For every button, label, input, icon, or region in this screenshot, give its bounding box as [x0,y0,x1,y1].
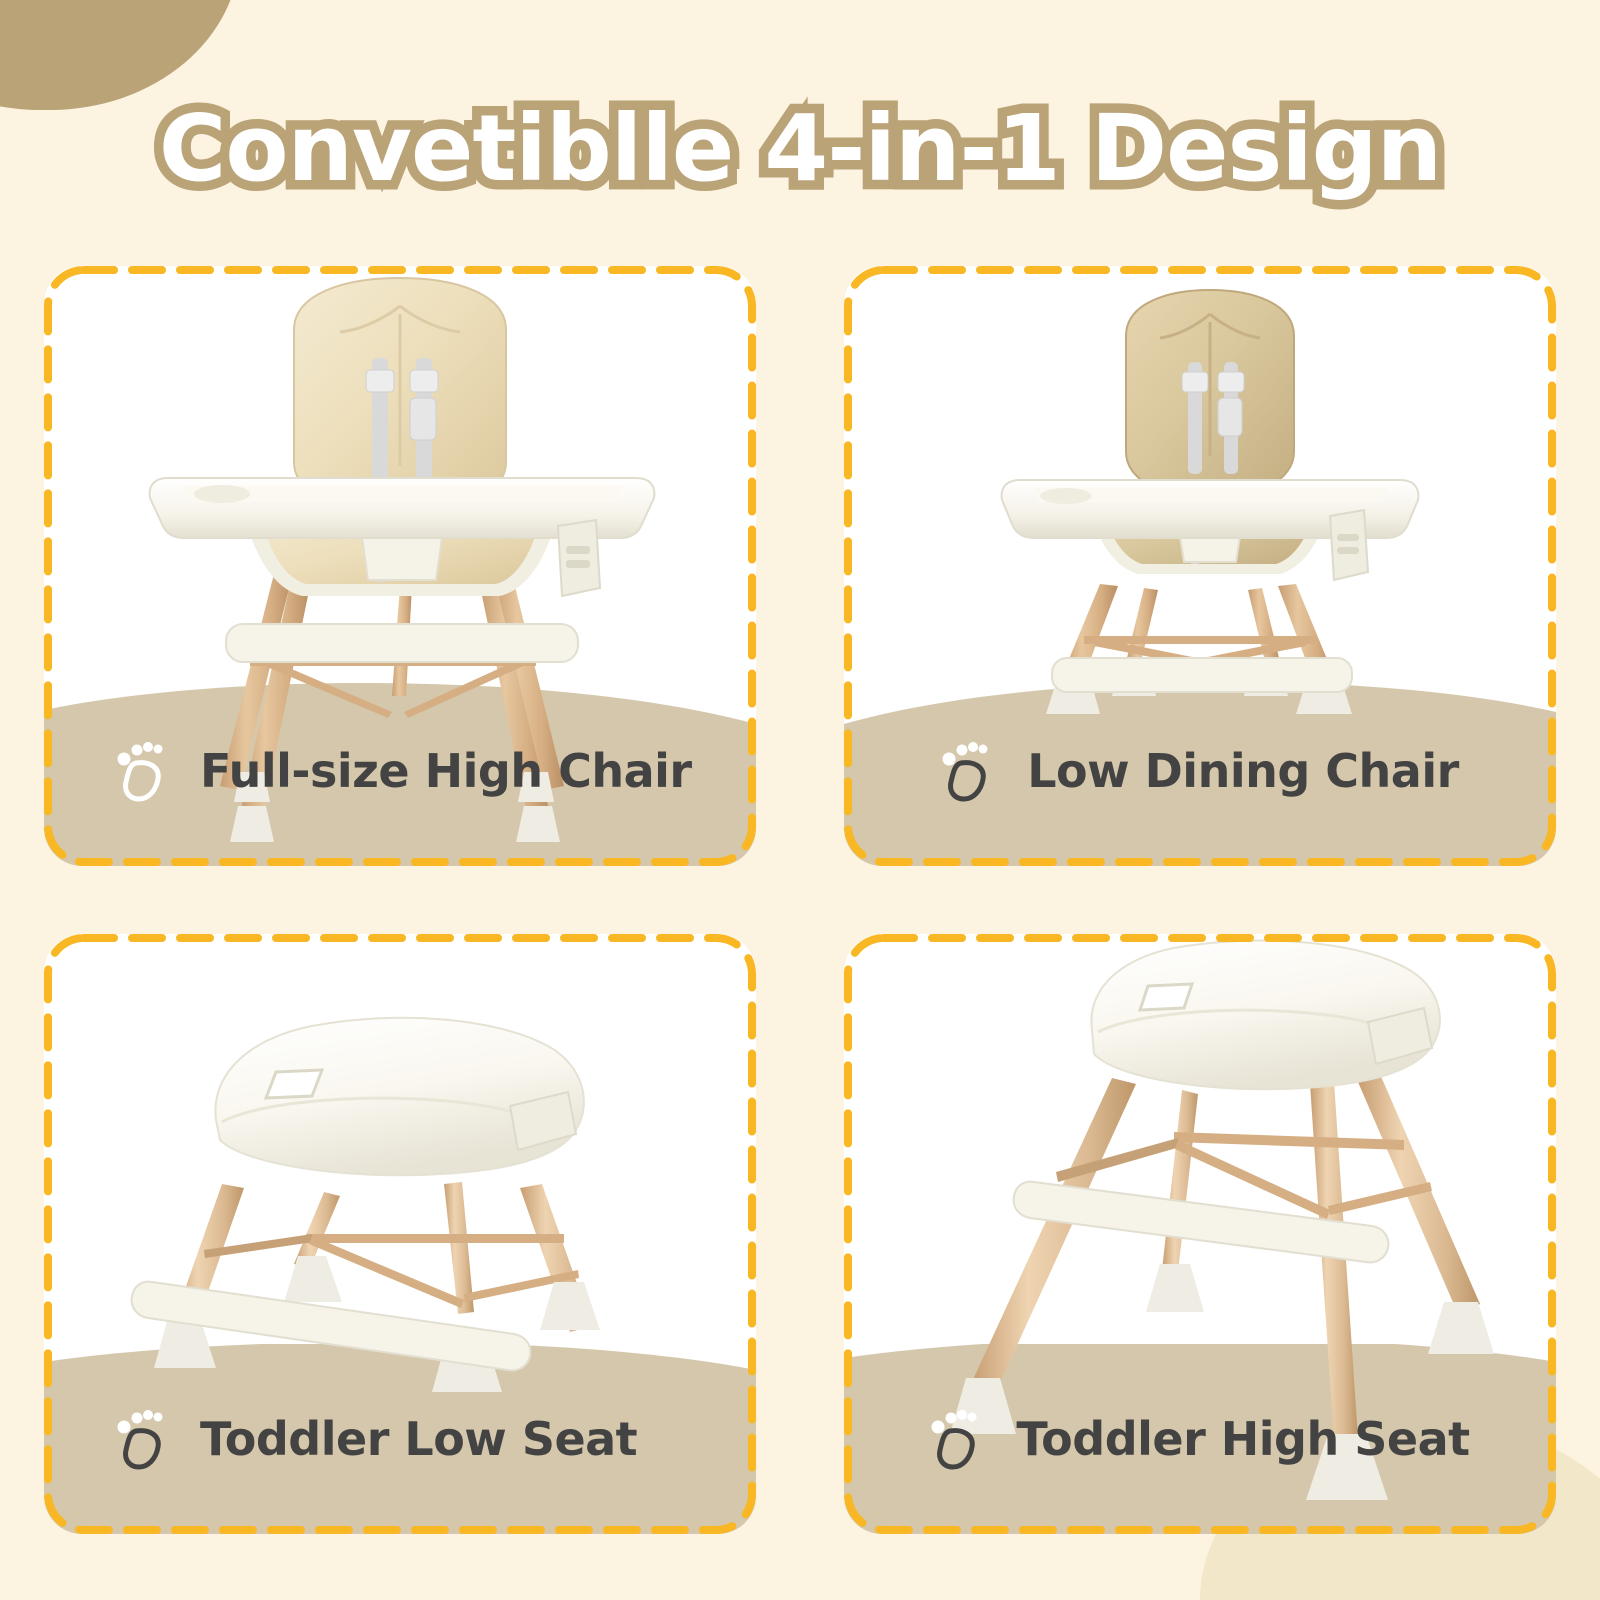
panel-full-size-high-chair[interactable]: Full-size High Chair [44,266,756,866]
footprint-icon [116,1407,172,1471]
panel-label-row: Low Dining Chair [844,676,1556,866]
panel-label: Toddler High Seat [1016,1412,1469,1466]
panel-toddler-high-seat[interactable]: Toddler High Seat [844,934,1556,1534]
footprint-icon [941,739,997,803]
decorative-blob-top-left [0,0,240,110]
infographic-page: Convetiblle 4-in-1 Design [0,0,1600,1600]
panel-label-row: Toddler Low Seat [44,1344,756,1534]
panel-label: Toddler Low Seat [200,1412,637,1466]
panel-label: Full-size High Chair [200,744,692,798]
seat-shell [215,1018,583,1175]
footprint-icon [116,739,172,803]
page-title: Convetiblle 4-in-1 Design [159,96,1441,202]
panel-label: Low Dining Chair [1027,744,1459,798]
footrest-bar [226,624,578,662]
page-title-wrap: Convetiblle 4-in-1 Design [0,96,1600,202]
panel-label-row: Toddler High Seat [844,1344,1556,1534]
panel-label-row: Full-size High Chair [44,676,756,866]
seat-shell [1091,941,1440,1090]
panel-toddler-low-seat[interactable]: Toddler Low Seat [44,934,756,1534]
panel-low-dining-chair[interactable]: Low Dining Chair [844,266,1556,866]
feature-panel-grid: Full-size High Chair [44,266,1556,1534]
footprint-icon [930,1407,986,1471]
